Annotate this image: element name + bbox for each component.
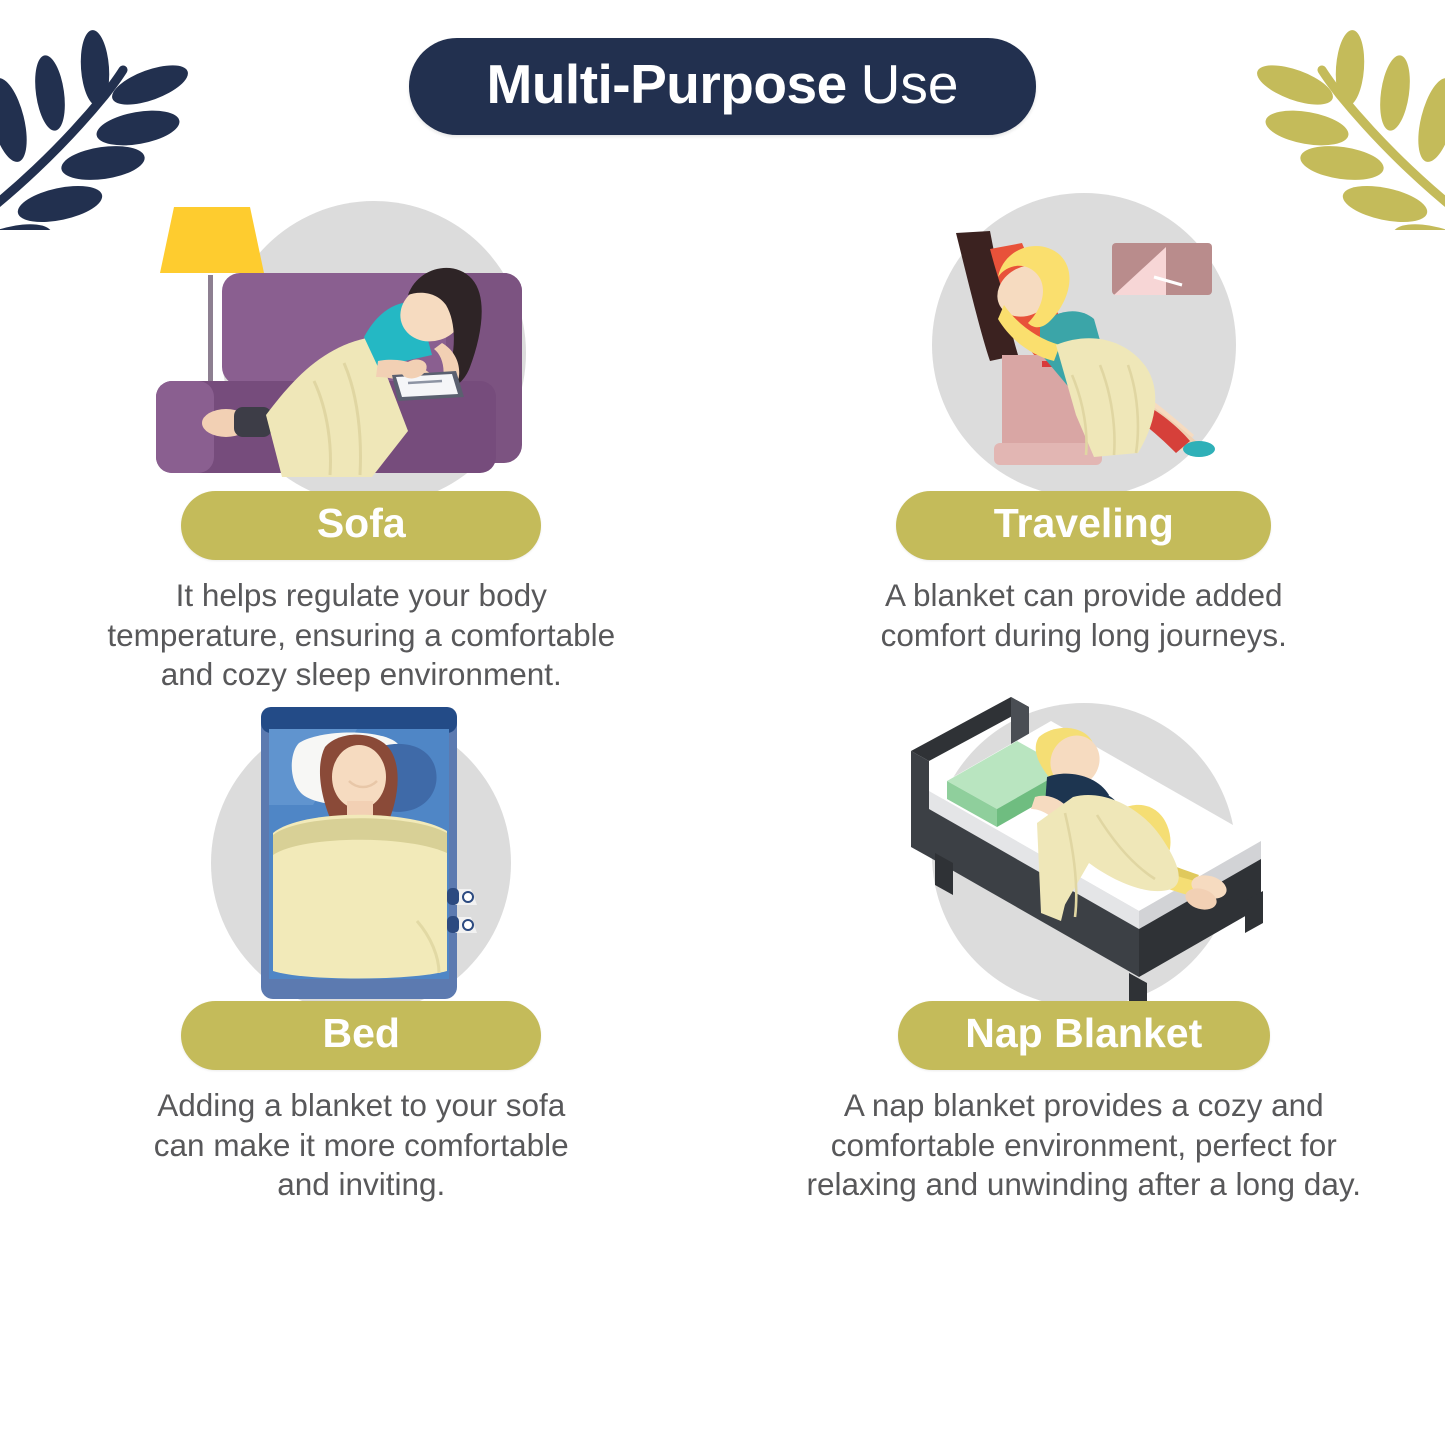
bed-illustration xyxy=(181,685,541,1015)
page-title: Multi-Purpose Use xyxy=(0,38,1445,135)
use-cases-grid: Sofa It helps regulate your body tempera… xyxy=(0,185,1445,1230)
card-label-nap-blanket[interactable]: Nap Blanket xyxy=(898,1001,1270,1070)
title-strong-text: Multi-Purpose xyxy=(487,57,847,112)
use-case-card-nap-blanket: Nap Blanket A nap blanket provides a coz… xyxy=(723,685,1445,1230)
sofa-illustration xyxy=(146,185,576,505)
title-banner: Multi-Purpose Use xyxy=(409,38,1037,135)
card-caption-nap-blanket: A nap blanket provides a cozy and comfor… xyxy=(774,1086,1394,1205)
use-case-card-bed: Bed Adding a blanket to your sofa can ma… xyxy=(0,685,723,1230)
traveling-illustration xyxy=(894,185,1274,505)
card-label-sofa[interactable]: Sofa xyxy=(181,491,541,560)
card-caption-bed: Adding a blanket to your sofa can make i… xyxy=(101,1086,621,1205)
use-case-card-traveling: Traveling A blanket can provide added co… xyxy=(723,185,1445,685)
card-caption-sofa: It helps regulate your body temperature,… xyxy=(51,576,671,695)
card-label-traveling[interactable]: Traveling xyxy=(896,491,1271,560)
card-caption-traveling: A blanket can provide added comfort duri… xyxy=(814,576,1354,655)
nap-blanket-illustration xyxy=(889,685,1279,1015)
card-label-bed[interactable]: Bed xyxy=(181,1001,541,1070)
title-light-text: Use xyxy=(861,57,959,112)
use-case-card-sofa: Sofa It helps regulate your body tempera… xyxy=(0,185,723,685)
